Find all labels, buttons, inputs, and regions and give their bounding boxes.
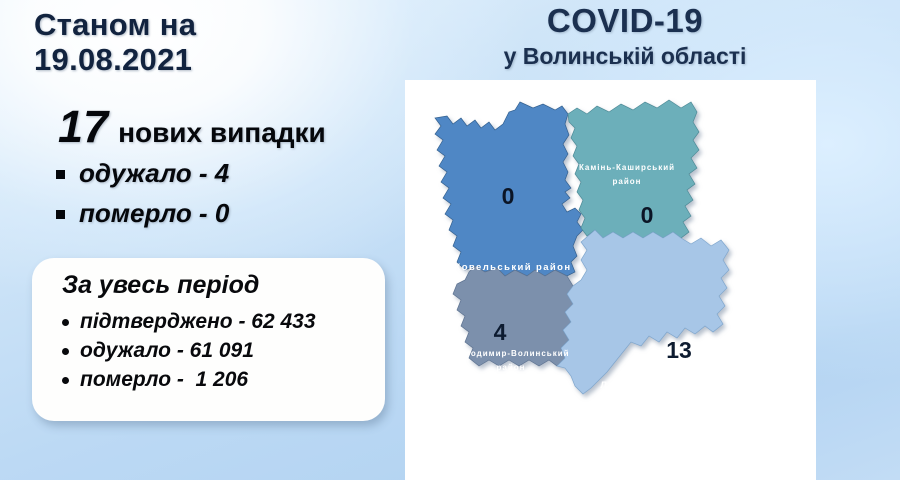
map-panel: Ковельський район 0 Камінь-Каширський ра…: [405, 80, 816, 480]
district-lutsk-label: Луцький район: [600, 380, 689, 391]
district-volodymyr-volynskyi-value: 4: [494, 319, 507, 345]
infographic-root: Станом на 19.08.2021 17 нових випадки од…: [0, 0, 900, 480]
round-bullet-icon: [62, 348, 69, 355]
square-bullet-icon: [56, 210, 65, 219]
district-volodymyr-volynskyi-label-line2: район: [497, 363, 526, 372]
left-column: Станом на 19.08.2021 17 нових випадки од…: [0, 0, 400, 480]
district-kovel-value: 0: [502, 183, 515, 209]
round-bullet-icon: [62, 319, 69, 326]
map-title-line1: COVID-19: [430, 4, 820, 39]
map-title: COVID-19 у Волинській області: [430, 4, 820, 70]
district-volodymyr-volynskyi-label-line1: Володимир-Волинський: [452, 349, 569, 358]
round-bullet-icon: [62, 377, 69, 384]
recovered-today-label: одужало - 4: [79, 158, 229, 189]
deaths-total-label: померло - 1 206: [80, 368, 248, 392]
list-item: підтверджено - 62 433: [62, 310, 316, 334]
district-kamin-kashyrskyi-label-line2: район: [613, 177, 642, 186]
confirmed-total-label: підтверджено - 62 433: [80, 310, 316, 334]
total-period-title: За увесь період: [62, 271, 259, 300]
total-period-card: За увесь період підтверджено - 62 433 од…: [32, 258, 385, 421]
deaths-today-label: померло - 0: [79, 198, 229, 229]
volyn-oblast-map: Ковельський район 0 Камінь-Каширський ра…: [405, 80, 816, 480]
list-item: одужало - 61 091: [62, 339, 316, 363]
new-cases-number: 17: [58, 104, 108, 149]
list-item: одужало - 4: [56, 158, 229, 189]
total-period-list: підтверджено - 62 433 одужало - 61 091 п…: [62, 310, 316, 397]
list-item: померло - 0: [56, 198, 229, 229]
new-cases-caption: нових випадки: [118, 119, 326, 147]
as-of-date-headline: Станом на 19.08.2021: [34, 8, 196, 77]
today-stats-list: одужало - 4 померло - 0: [56, 158, 229, 238]
recovered-total-label: одужало - 61 091: [80, 339, 254, 363]
map-title-line2: у Волинській області: [430, 42, 820, 71]
district-lutsk-shape[interactable]: [557, 230, 729, 394]
district-kovel-label: Ковельський район: [455, 262, 572, 273]
district-kamin-kashyrskyi-value: 0: [641, 202, 654, 228]
district-kamin-kashyrskyi-label-line1: Камінь-Каширський: [579, 163, 675, 172]
square-bullet-icon: [56, 170, 65, 179]
district-lutsk-value: 13: [666, 337, 692, 363]
new-cases-summary: 17 нових випадки: [58, 104, 326, 149]
list-item: померло - 1 206: [62, 368, 316, 392]
